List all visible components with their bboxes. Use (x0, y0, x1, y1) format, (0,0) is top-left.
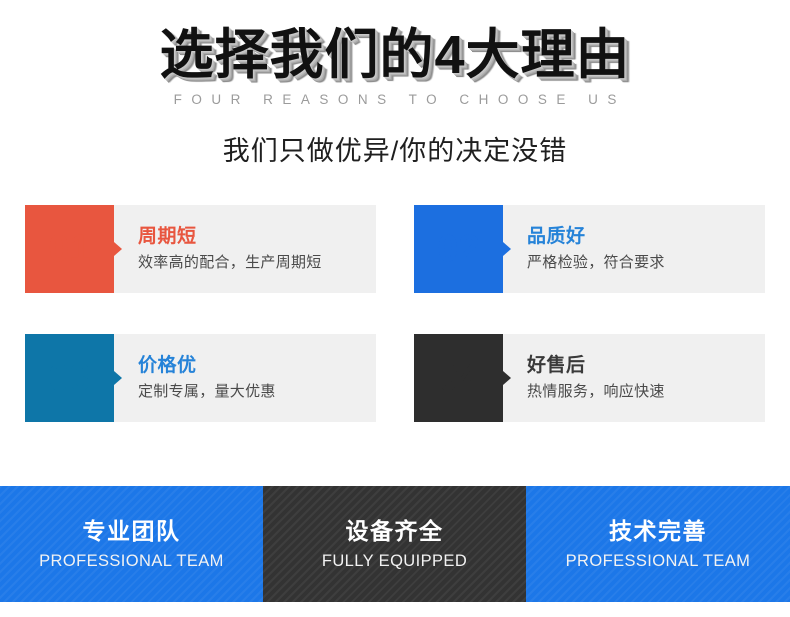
triangle-pointer-icon (503, 371, 511, 385)
feature-panel-subtitle-1: PROFESSIONAL TEAM (39, 552, 224, 571)
reason-desc-02: 严格检验，符合要求 (527, 252, 765, 275)
page-subtitle: 我们只做优异/你的决定没错 (0, 129, 790, 168)
reason-number-box-01: 01 (25, 205, 114, 293)
reason-card-03[interactable]: 03 价格优 定制专属，量大优惠 (25, 334, 376, 422)
feature-panel-subtitle-3: PROFESSIONAL TEAM (566, 552, 751, 571)
reason-number-03: 03 (48, 357, 90, 400)
page-title-english: FOUR REASONS TO CHOOSE US (0, 92, 790, 107)
reason-number-box-02: 02 (414, 205, 503, 293)
feature-bar: 专业团队 PROFESSIONAL TEAM 设备齐全 FULLY EQUIPP… (0, 486, 790, 602)
reason-title-01: 周期短 (138, 224, 376, 250)
header-section: 选择我们的4大理由 FOUR REASONS TO CHOOSE US 我们只做… (0, 0, 790, 168)
reason-body-02: 品质好 严格检验，符合要求 (503, 205, 765, 293)
reason-desc-04: 热情服务，响应快速 (527, 381, 765, 404)
reasons-grid: 01 周期短 效率高的配合，生产周期短 02 品质好 严格检验，符合要求 03 … (25, 205, 765, 422)
reason-card-02[interactable]: 02 品质好 严格检验，符合要求 (414, 205, 765, 293)
reason-number-01: 01 (48, 228, 90, 271)
reason-title-03: 价格优 (138, 353, 376, 379)
reason-number-04: 04 (437, 357, 479, 400)
reason-desc-03: 定制专属，量大优惠 (138, 381, 376, 404)
reason-card-01[interactable]: 01 周期短 效率高的配合，生产周期短 (25, 205, 376, 293)
feature-panel-title-2: 设备齐全 (346, 517, 444, 547)
feature-panel-technical-excellence[interactable]: 技术完善 PROFESSIONAL TEAM (526, 486, 790, 602)
feature-panel-subtitle-2: FULLY EQUIPPED (322, 552, 467, 571)
page-title: 选择我们的4大理由 (0, 26, 790, 84)
feature-panel-fully-equipped[interactable]: 设备齐全 FULLY EQUIPPED (263, 486, 526, 602)
reason-number-02: 02 (437, 228, 479, 271)
triangle-pointer-icon (114, 242, 122, 256)
reason-body-04: 好售后 热情服务，响应快速 (503, 334, 765, 422)
feature-panel-professional-team[interactable]: 专业团队 PROFESSIONAL TEAM (0, 486, 263, 602)
reason-desc-01: 效率高的配合，生产周期短 (138, 252, 376, 275)
feature-panel-title-1: 专业团队 (83, 517, 181, 547)
triangle-pointer-icon (503, 242, 511, 256)
feature-panel-title-3: 技术完善 (609, 517, 707, 547)
reason-title-02: 品质好 (527, 224, 765, 250)
reason-card-04[interactable]: 04 好售后 热情服务，响应快速 (414, 334, 765, 422)
reason-number-box-04: 04 (414, 334, 503, 422)
reason-body-03: 价格优 定制专属，量大优惠 (114, 334, 376, 422)
triangle-pointer-icon (114, 371, 122, 385)
reason-body-01: 周期短 效率高的配合，生产周期短 (114, 205, 376, 293)
reason-title-04: 好售后 (527, 353, 765, 379)
reason-number-box-03: 03 (25, 334, 114, 422)
